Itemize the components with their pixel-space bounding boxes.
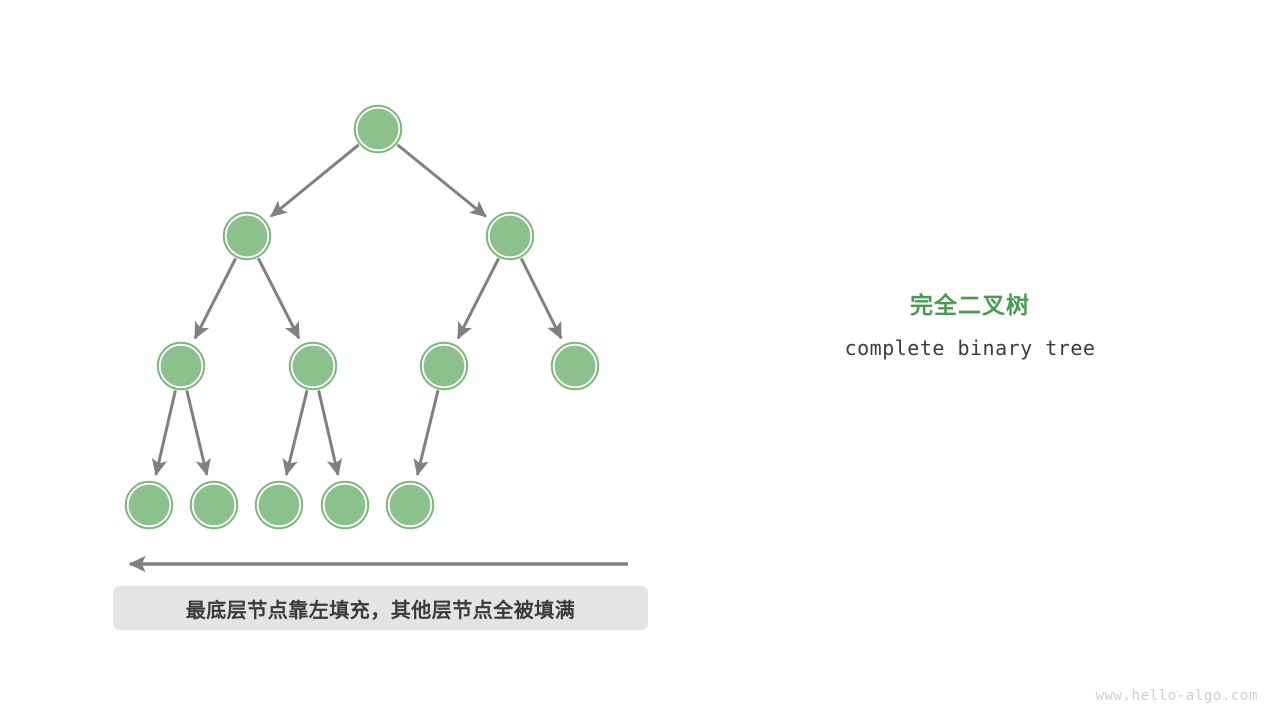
tree-node	[290, 343, 336, 389]
tree-nodes	[126, 106, 598, 528]
legend-block: 完全二叉树 complete binary tree	[790, 292, 1150, 360]
tree-edge	[397, 145, 485, 217]
tree-edge	[258, 258, 299, 338]
tree-edge	[417, 390, 438, 475]
tree-node	[322, 482, 368, 528]
legend-title-chinese: 完全二叉树	[790, 292, 1150, 320]
tree-edge	[271, 145, 359, 217]
watermark-label: www.hello-algo.com	[1095, 688, 1258, 704]
tree-node	[355, 106, 401, 152]
tree-node	[421, 343, 467, 389]
tree-edge	[521, 258, 561, 338]
caption-box: 最底层节点靠左填充，其他层节点全被填满	[113, 586, 648, 630]
caption-label: 最底层节点靠左填充，其他层节点全被填满	[186, 594, 576, 623]
tree-node	[256, 482, 302, 528]
tree-node	[191, 482, 237, 528]
tree-edge	[195, 258, 236, 338]
diagram-canvas: 完全二叉树 complete binary tree 最底层节点靠左填充，其他层…	[0, 0, 1280, 720]
tree-edges	[156, 145, 561, 475]
legend-subtitle-english: complete binary tree	[790, 336, 1150, 360]
tree-node	[387, 482, 433, 528]
tree-node	[158, 343, 204, 389]
tree-node	[224, 213, 270, 259]
tree-node	[487, 213, 533, 259]
tree-node	[126, 482, 172, 528]
tree-edge	[458, 258, 499, 338]
tree-edge	[156, 390, 175, 474]
tree-edge	[286, 390, 307, 475]
tree-edge	[187, 390, 207, 475]
tree-node	[552, 343, 598, 389]
tree-edge	[319, 390, 338, 474]
